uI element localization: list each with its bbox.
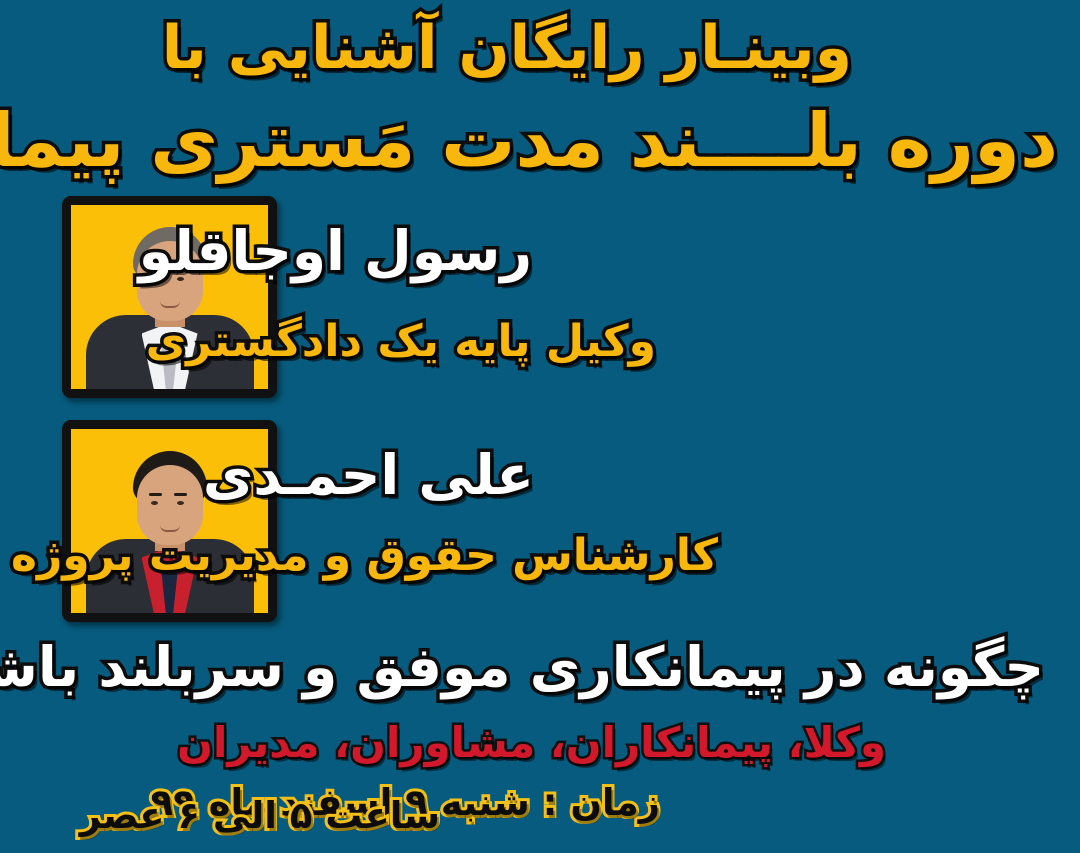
tagline: چگونه در پیمانکاری موفق و سربلند باشیم؟ (0, 640, 1044, 695)
speaker-1-role: وکیل پایه یک دادگستری (146, 320, 656, 364)
speaker-1-name: رسول اوجاقلو (139, 224, 532, 279)
speaker-2-name: علی احمـدی (203, 448, 534, 503)
event-hours: ساعت ۵ الی ۶ عصر (80, 797, 440, 834)
target-audience: وکلا، پیمانکاران، مشاوران، مدیران (177, 722, 886, 764)
headline-line-2: دوره بلــــند مدت مَستری پیمانکاری (0, 104, 1058, 178)
speaker-2-role: کارشناس حقوق و مدیریت پروژه (11, 534, 718, 578)
webinar-poster: وبینـار رایگان آشنایی با دوره بلــــند م… (0, 0, 1080, 853)
headline-line-1: وبینـار رایگان آشنایی با (162, 18, 852, 78)
